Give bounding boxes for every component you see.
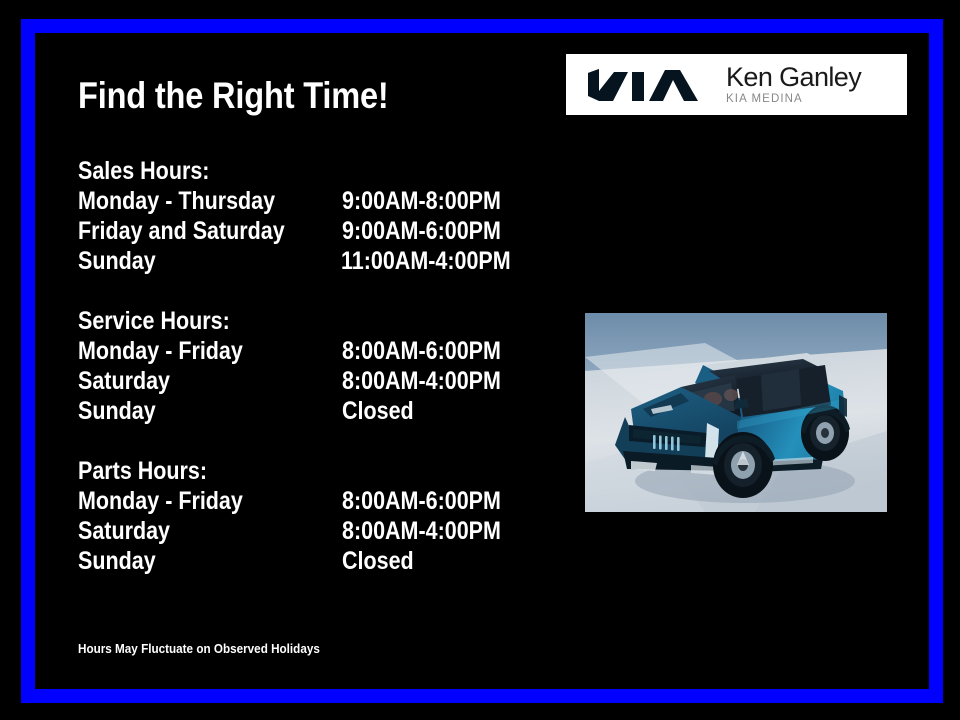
hours-row: Sunday11:00AM-4:00PM (78, 246, 538, 276)
hours-day-label: Monday - Friday (78, 486, 305, 516)
hours-time-value: Closed (342, 546, 511, 576)
dealer-logo-text: Ken Ganley KIA MEDINA (726, 64, 861, 106)
hours-section: Service Hours:Monday - Friday8:00AM-6:00… (78, 306, 538, 426)
hours-day-label: Monday - Friday (78, 336, 305, 366)
hours-row: Monday - Thursday9:00AM-8:00PM (78, 186, 538, 216)
dealer-subtitle: KIA MEDINA (726, 94, 861, 106)
hours-row: SundayClosed (78, 396, 538, 426)
hours-section: Parts Hours:Monday - Friday8:00AM-6:00PM… (78, 456, 538, 576)
hours-row: Friday and Saturday9:00AM-6:00PM (78, 216, 538, 246)
hours-time-value: 8:00AM-4:00PM (342, 366, 511, 396)
page-title: Find the Right Time! (78, 75, 389, 117)
hours-day-label: Sunday (78, 396, 305, 426)
hours-time-value: 9:00AM-8:00PM (342, 186, 511, 216)
hours-time-value: 9:00AM-6:00PM (342, 216, 511, 246)
hours-section-heading: Parts Hours: (78, 456, 474, 486)
hours-row: Saturday8:00AM-4:00PM (78, 516, 538, 546)
vehicle-photo (585, 313, 887, 512)
hours-list: Sales Hours:Monday - Thursday9:00AM-8:00… (78, 156, 538, 576)
dealer-name: Ken Ganley (726, 64, 861, 91)
holiday-disclaimer: Hours May Fluctuate on Observed Holidays (78, 641, 320, 656)
hours-time-value: 8:00AM-6:00PM (342, 486, 511, 516)
hours-row: Saturday8:00AM-4:00PM (78, 366, 538, 396)
hours-row: Monday - Friday8:00AM-6:00PM (78, 486, 538, 516)
hours-day-label: Friday and Saturday (78, 216, 305, 246)
hours-section-heading: Service Hours: (78, 306, 474, 336)
hours-time-value: 11:00AM-4:00PM (341, 246, 511, 276)
hours-section: Sales Hours:Monday - Thursday9:00AM-8:00… (78, 156, 538, 276)
dealer-logo-card: Ken Ganley KIA MEDINA (566, 54, 907, 115)
hours-day-label: Saturday (78, 366, 305, 396)
hours-row: Monday - Friday8:00AM-6:00PM (78, 336, 538, 366)
dealership-hours-slide: Find the Right Time! Sales Hours:Monday … (0, 0, 960, 720)
hours-time-value: 8:00AM-6:00PM (342, 336, 511, 366)
vehicle-illustration (585, 313, 887, 512)
hours-day-label: Monday - Thursday (78, 186, 305, 216)
hours-day-label: Sunday (78, 246, 304, 276)
hours-time-value: 8:00AM-4:00PM (342, 516, 511, 546)
hours-day-label: Saturday (78, 516, 305, 546)
hours-time-value: Closed (342, 396, 511, 426)
hours-section-heading: Sales Hours: (78, 156, 474, 186)
kia-logo-icon (582, 68, 704, 102)
hours-day-label: Sunday (78, 546, 305, 576)
hours-row: SundayClosed (78, 546, 538, 576)
